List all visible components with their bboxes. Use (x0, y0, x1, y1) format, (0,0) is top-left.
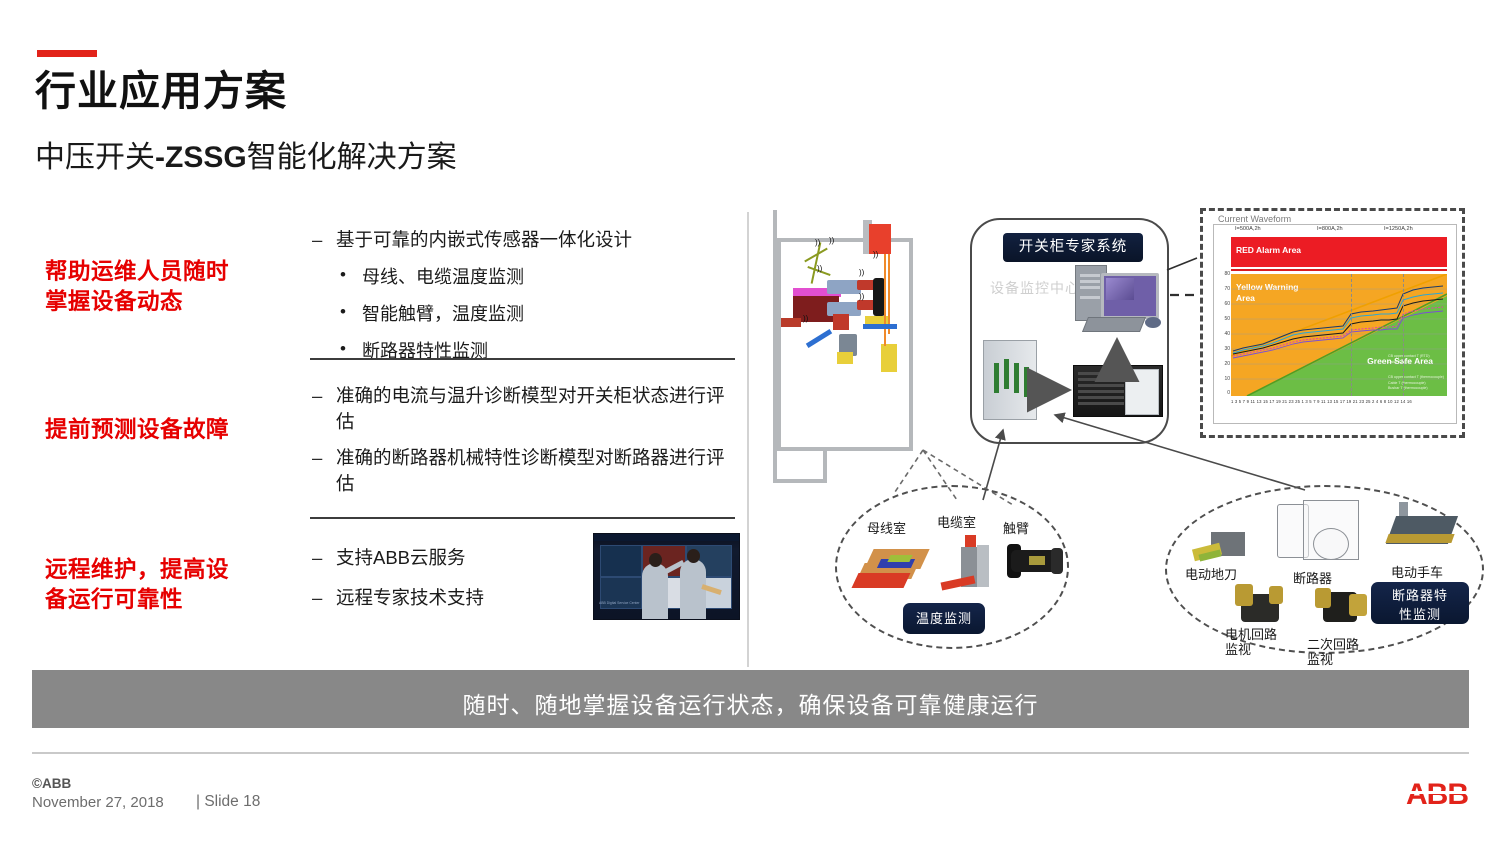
benefit-heading-2-line1: 提前预测设备故障 (45, 415, 229, 445)
chart-plot-area: Yellow WarningArea Green Safe Area (1231, 274, 1447, 396)
label-contact-arm: 触臂 (1003, 518, 1029, 537)
wireless-sensor-icon: )) (859, 268, 868, 277)
chart-annotation: I=800A,2h (1317, 226, 1343, 232)
chart-x-axis-ticks: 1 3 5 7 9 11 13 15 17 19 21 23 25 1 3 5 … (1231, 399, 1447, 404)
cable-room-illustration (951, 535, 993, 597)
label-motor-circuit-monitor: 电机回路监视 (1225, 628, 1285, 658)
wireless-sensor-icon: )) (873, 250, 882, 259)
plc-module-illustration (983, 340, 1037, 420)
wireless-sensor-icon: )) (859, 292, 868, 301)
page-title: 行业应用方案 (35, 68, 287, 115)
detail-group-1: 基于可靠的内嵌式传感器一体化设计 母线、电缆温度监测 智能触臂，温度监测 断路器… (310, 227, 738, 365)
sub-bullet: 母线、电缆温度监测 (310, 264, 738, 290)
photo-topbar (594, 534, 739, 541)
subtitle-post: 智能化解决方案 (247, 141, 457, 174)
sub-bullet: 智能触臂，温度监测 (310, 301, 738, 327)
breaker-badge-line2: 性监测 (1371, 606, 1469, 625)
divider-rule-2 (310, 517, 735, 519)
chart-red-boundary (1231, 269, 1447, 271)
label-circuit-breaker: 断路器 (1293, 568, 1332, 587)
detail-group-2: 准确的电流与温升诊断模型对开关柜状态进行评估 准确的断路器机械特性诊断模型对断路… (310, 383, 738, 499)
cabinet-wire (888, 254, 890, 334)
benefit-heading-1: 帮助运维人员随时 掌握设备动态 (45, 257, 229, 317)
footer-divider (32, 752, 1469, 754)
keyboard-icon (1082, 317, 1146, 332)
monitor-icon (1101, 273, 1159, 319)
label-busbar-room: 母线室 (867, 518, 906, 537)
cta-banner: 随时、随地掌握设备运行状态，确保设备可靠健康运行 (32, 670, 1469, 728)
subtitle-pre: 中压开关 (35, 141, 155, 174)
industrial-pc-illustration (1073, 365, 1163, 417)
benefit-heading-3-line2: 备运行可靠性 (45, 585, 229, 615)
mouse-icon (1145, 317, 1161, 328)
wireless-sensor-icon: )) (803, 314, 812, 323)
flow-arrow (863, 324, 897, 329)
copyright-label: ©ABB (32, 776, 71, 791)
cabinet-part (881, 344, 897, 372)
chart-divider-line (1403, 274, 1404, 396)
cabinet-part (781, 318, 801, 327)
chart-legend: CB upper contact T (RTD) Cable T (RTD) C… (1388, 354, 1444, 392)
current-waveform-chart: Current Waveform I=500A,2h I=800A,2h I=1… (1200, 208, 1465, 438)
title-accent-bar (37, 50, 97, 57)
label-motorized-truck: 电动手车 (1391, 562, 1443, 581)
secondary-circuit-illustration (1315, 582, 1369, 626)
legend-entry: Busbar T (thermocouple) (1388, 386, 1444, 392)
benefit-headings-column: 帮助运维人员随时 掌握设备动态 提前预测设备故障 远程维护，提高设 备运行可靠性 (40, 215, 305, 665)
slide-number-label: | Slide 18 (196, 793, 260, 811)
photo-person-head (649, 553, 662, 567)
subtitle-bold: -ZSSG (155, 141, 247, 174)
control-room-photo: ABB Digital Service Center (593, 533, 740, 620)
motorized-earth-switch-illustration (1193, 530, 1251, 568)
cabinet-part (833, 314, 849, 330)
connector-panel-to-chart (1167, 258, 1197, 270)
motorized-truck-illustration (1385, 500, 1461, 552)
chart-annotation: I=1250A,2h (1384, 226, 1413, 232)
divider-rule-1 (310, 358, 735, 360)
circuit-breaker-illustration (1273, 498, 1363, 573)
wireless-sensor-icon: )) (815, 238, 824, 247)
solution-diagram: )) )) )) )) )) )) )) 开关柜专家系统 设备监控中心 (745, 200, 1490, 670)
label-motorized-earth-switch: 电动地刀 (1185, 568, 1237, 583)
label-cable-room: 电缆室 (937, 512, 976, 531)
chart-divider-line (1351, 274, 1352, 396)
photo-screen (600, 545, 642, 577)
benefit-details-column: 基于可靠的内嵌式传感器一体化设计 母线、电缆温度监测 智能触臂，温度监测 断路器… (310, 215, 740, 670)
dash-item: 准确的电流与温升诊断模型对开关柜状态进行评估 (310, 383, 738, 436)
benefit-heading-3-line1: 远程维护，提高设 (45, 555, 229, 585)
sub-bullet: 断路器特性监测 (310, 338, 738, 364)
benefit-heading-1-line2: 掌握设备动态 (45, 287, 229, 317)
benefit-heading-1-line1: 帮助运维人员随时 (45, 257, 229, 287)
switchgear-cabinet-illustration: )) )) )) )) )) )) )) (773, 210, 923, 455)
abb-logo: ABB (1406, 778, 1468, 812)
date-label: November 27, 2018 (32, 794, 164, 811)
leader-line (895, 450, 923, 492)
wireless-sensor-icon: )) (829, 236, 838, 245)
motor-circuit-illustration (1233, 582, 1287, 626)
cabinet-wire (884, 254, 886, 346)
workstation-illustration (1065, 265, 1161, 340)
cabinet-part (837, 352, 853, 364)
photo-caption: ABB Digital Service Center (599, 601, 640, 605)
dash-item: 准确的断路器机械特性诊断模型对断路器进行评估 (310, 445, 738, 498)
cta-text: 随时、随地掌握设备运行状态，确保设备可靠健康运行 (32, 686, 1469, 720)
photo-person-head (687, 549, 700, 563)
io-panel (1125, 369, 1159, 415)
chart-zone-red-label: RED Alarm Area (1236, 245, 1301, 255)
benefit-heading-3: 远程维护，提高设 备运行可靠性 (45, 555, 229, 615)
breaker-monitoring-badge: 断路器特 性监测 (1371, 582, 1469, 624)
chart-annotation: I=500A,2h (1235, 226, 1261, 232)
chart-y-axis: 807060 504030 20100 (1213, 274, 1231, 396)
cabinet-part (827, 280, 861, 294)
wireless-sensor-icon: )) (817, 264, 826, 273)
benefit-heading-2: 提前预测设备故障 (45, 415, 229, 445)
dash-item: 基于可靠的内嵌式传感器一体化设计 (310, 227, 738, 253)
label-secondary-circuit-monitor: 二次回路监视 (1307, 638, 1367, 668)
contact-arm-illustration (1007, 540, 1063, 582)
chart-zone-red: RED Alarm Area (1231, 237, 1447, 267)
page-subtitle: 中压开关-ZSSG智能化解决方案 (35, 132, 457, 176)
breaker-badge-line1: 断路器特 (1371, 587, 1469, 606)
temperature-monitoring-badge: 温度监测 (903, 603, 985, 634)
busbar-illustration (855, 545, 939, 593)
expert-system-badge: 开关柜专家系统 (1003, 233, 1143, 262)
chart-title: Current Waveform (1215, 214, 1294, 224)
